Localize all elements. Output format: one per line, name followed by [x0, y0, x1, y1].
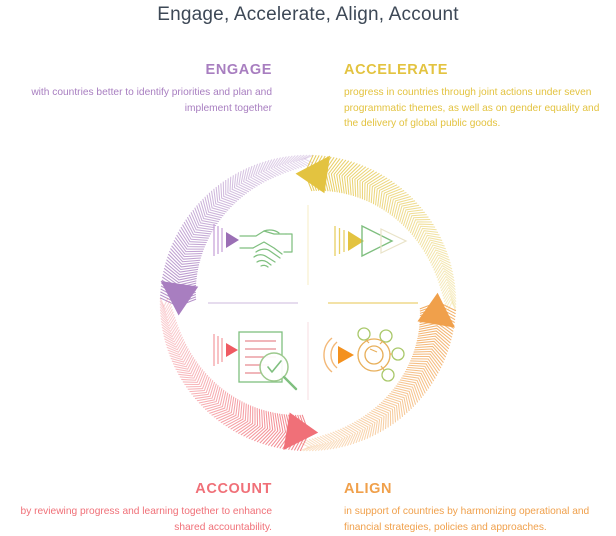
diagram-canvas: Engage, Accelerate, Align, Account: [0, 0, 616, 536]
quadrant-engage: ENGAGE with countries better to identify…: [10, 62, 272, 116]
align-arc: [300, 302, 456, 451]
quadrant-accelerate: ACCELERATE progress in countries through…: [344, 62, 606, 132]
engage-arc: [160, 155, 313, 306]
quadrant-account: ACCOUNT by reviewing progress and learni…: [10, 481, 272, 535]
quadrant-accelerate-label: ACCELERATE: [344, 62, 606, 78]
quadrant-accelerate-description: progress in countries through joint acti…: [344, 85, 606, 132]
quadrant-account-description: by reviewing progress and learning toget…: [10, 504, 272, 535]
quadrant-engage-description: with countries better to identify priori…: [10, 85, 272, 116]
network-core-tick: [370, 349, 377, 352]
network-nodes-icon: [324, 328, 404, 381]
network-core-outer: [358, 339, 390, 371]
quadrant-align: ALIGN in support of countries by harmoni…: [344, 481, 606, 535]
quadrant-align-description: in support of countries by harmonizing o…: [344, 504, 606, 535]
magnifier-handle: [284, 377, 296, 389]
document-magnifier-icon: [214, 332, 296, 389]
network-arrow: [338, 346, 354, 364]
network-links: [366, 340, 392, 370]
fast-forward-icon: [335, 226, 406, 256]
network-core-inner: [365, 346, 383, 364]
quadrant-engage-label: ENGAGE: [10, 62, 272, 78]
network-arrow-rays: [324, 338, 337, 372]
handshake-icon: [214, 224, 292, 267]
fast-forward-outline-triangle: [362, 226, 392, 256]
document-arrow: [226, 343, 238, 357]
handshake-arrow: [226, 232, 239, 248]
quadrant-account-label: ACCOUNT: [10, 481, 272, 497]
quadrant-align-label: ALIGN: [344, 481, 606, 497]
